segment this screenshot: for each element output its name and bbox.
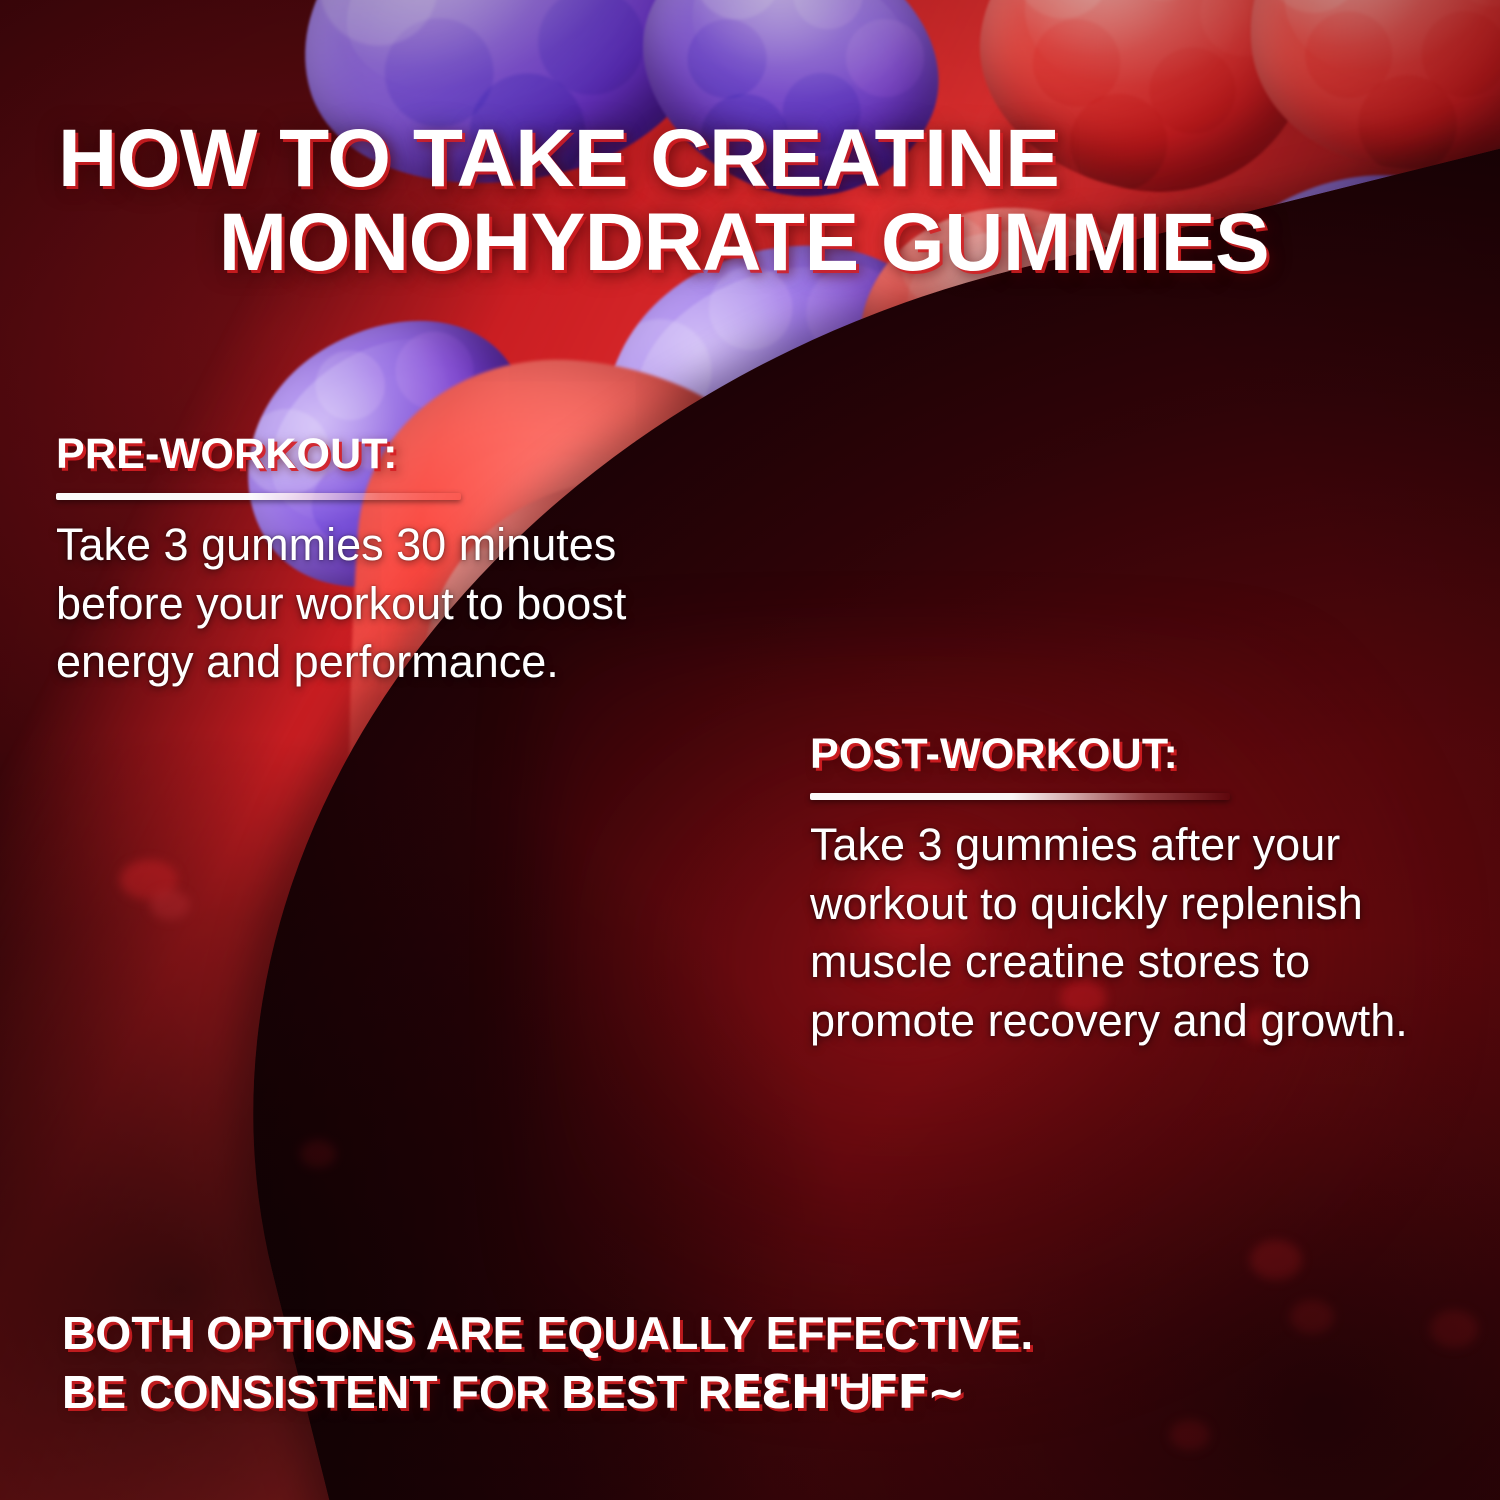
title-line-2: MONOHYDRATE GUMMIES — [58, 201, 1388, 285]
footer-line-1: BOTH OPTIONS ARE EQUALLY EFFECTIVE. — [62, 1304, 1442, 1363]
title-line-1: HOW TO TAKE CREATINE — [58, 113, 1059, 204]
content-layer: HOW TO TAKE CREATINE MONOHYDRATE GUMMIES… — [0, 0, 1500, 1500]
page-title: HOW TO TAKE CREATINE MONOHYDRATE GUMMIES — [58, 117, 1388, 286]
footer-callout: BOTH OPTIONS ARE EQUALLY EFFECTIVE. BE C… — [62, 1304, 1442, 1422]
section-post-workout: POST-WORKOUT: Take 3 gummies after your … — [810, 730, 1470, 1050]
footer-line-2-garbled-text: EƐH'ᏌFF∼ — [731, 1365, 963, 1419]
pre-workout-body: Take 3 gummies 30 minutes before your wo… — [56, 516, 756, 692]
footer-line-2-prefix: BE CONSISTENT FOR BEST R — [62, 1366, 731, 1418]
infographic-canvas: HOW TO TAKE CREATINE MONOHYDRATE GUMMIES… — [0, 0, 1500, 1500]
heading-underline — [56, 493, 461, 500]
pre-workout-heading: PRE-WORKOUT: — [56, 430, 756, 479]
heading-underline — [810, 793, 1230, 800]
post-workout-heading: POST-WORKOUT: — [810, 730, 1470, 779]
post-workout-body: Take 3 gummies after your workout to qui… — [810, 816, 1470, 1050]
footer-line-2: BE CONSISTENT FOR BEST REƐH'ᏌFF∼ — [62, 1363, 1442, 1422]
section-pre-workout: PRE-WORKOUT: Take 3 gummies 30 minutes b… — [56, 430, 756, 692]
